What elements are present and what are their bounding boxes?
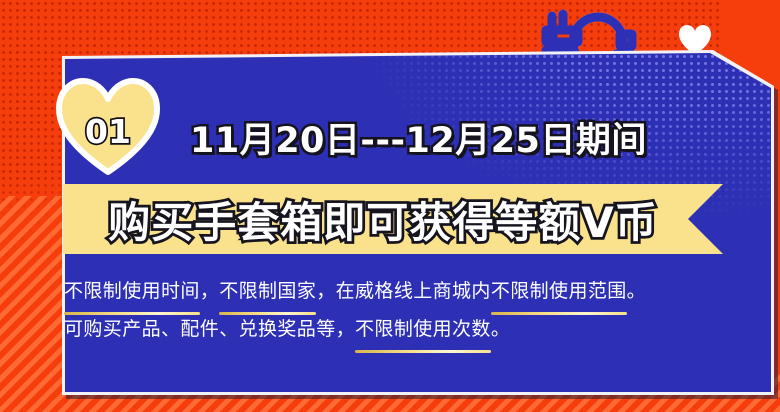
body-highlight: 不限制国家 [219, 272, 316, 310]
headline-text: 购买手套箱即可获得等额V币 [63, 184, 703, 254]
body-highlight: 不限制使用时间 [64, 272, 200, 310]
body-highlight: 不限制使用次数 [355, 310, 491, 348]
body-text: ，在威格线上商城内 [316, 280, 491, 302]
heart-badge: 01 [54, 76, 162, 176]
body-text: 。 [627, 280, 646, 302]
body-text: 可购买产品、配件、兑换奖品等， [64, 318, 355, 340]
date-range-text: 11月20日---12月25日期间 [190, 112, 647, 163]
body-line: 不限制使用时间，不限制国家，在威格线上商城内不限制使用范围。 [64, 272, 724, 310]
background-stripes-left [0, 196, 64, 412]
promo-banner: 01 11月20日---12月25日期间 购买手套箱即可获得等额V币 不限制使用… [0, 0, 780, 412]
badge-number: 01 [54, 76, 162, 176]
body-text: 。 [491, 318, 510, 340]
body-highlight: 不限制使用范围 [491, 272, 627, 310]
body-copy: 不限制使用时间，不限制国家，在威格线上商城内不限制使用范围。 可购买产品、配件、… [64, 272, 724, 348]
body-line: 可购买产品、配件、兑换奖品等，不限制使用次数。 [64, 310, 724, 348]
body-text: ， [200, 280, 219, 302]
stripe-pattern [0, 196, 64, 412]
